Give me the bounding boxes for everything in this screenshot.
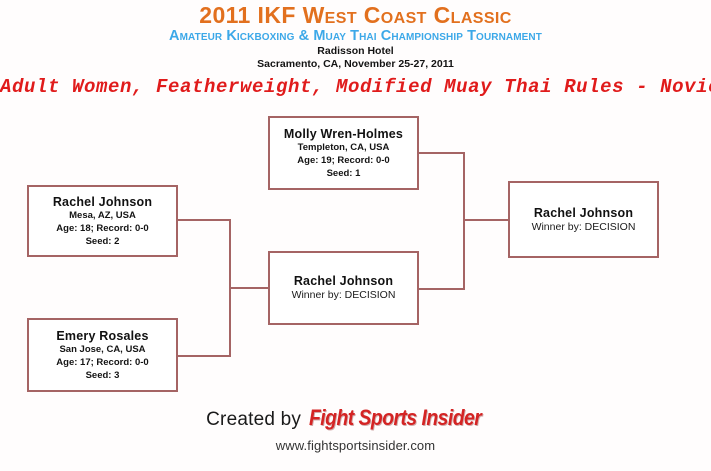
competitor-hometown: San Jose, CA, USA — [59, 343, 145, 356]
created-by-row: Created by Fight Sports Insider — [206, 405, 505, 431]
semifinal-winner-name: Rachel Johnson — [294, 274, 393, 288]
connector-final-vertical — [463, 152, 465, 290]
competitor-stats: Age: 19; Record: 0-0 — [297, 154, 389, 167]
final-winner-name: Rachel Johnson — [534, 206, 633, 220]
connector-semiwinner-to-final — [417, 288, 465, 290]
final-winner-box[interactable]: Rachel Johnson Winner by: DECISION — [508, 181, 659, 258]
competitor-name: Molly Wren-Holmes — [284, 127, 403, 141]
connector-final-feed — [463, 219, 510, 221]
connector-molly-to-final — [417, 152, 465, 154]
competitor-hometown: Mesa, AZ, USA — [69, 209, 136, 222]
competitor-stats: Age: 17; Record: 0-0 — [56, 356, 148, 369]
connector-semi-feed — [229, 287, 270, 289]
connector-emery-to-semi — [178, 355, 231, 357]
competitor-hometown: Templeton, CA, USA — [298, 141, 390, 154]
competitor-name: Rachel Johnson — [53, 195, 152, 209]
created-by-label: Created by — [206, 409, 301, 431]
competitor-name: Emery Rosales — [56, 329, 148, 343]
tournament-bracket-page: 2011 IKF West Coast Classic Amateur Kick… — [0, 0, 711, 471]
competitor-seed: Seed: 1 — [327, 167, 361, 180]
page-footer: Created by Fight Sports Insider www.figh… — [0, 405, 711, 453]
competitor-seed: Seed: 2 — [86, 235, 120, 248]
website-url[interactable]: www.fightsportsinsider.com — [0, 438, 711, 453]
competitor-stats: Age: 18; Record: 0-0 — [56, 222, 148, 235]
competitor-box-rachel-johnson[interactable]: Rachel Johnson Mesa, AZ, USA Age: 18; Re… — [27, 185, 178, 257]
semifinal-winner-box[interactable]: Rachel Johnson Winner by: DECISION — [268, 251, 419, 325]
semifinal-winner-result: Winner by: DECISION — [292, 288, 396, 302]
connector-rachel-to-semi — [178, 219, 231, 221]
competitor-seed: Seed: 3 — [86, 369, 120, 382]
competitor-box-emery-rosales[interactable]: Emery Rosales San Jose, CA, USA Age: 17;… — [27, 318, 178, 392]
competitor-box-molly-wren-holmes[interactable]: Molly Wren-Holmes Templeton, CA, USA Age… — [268, 116, 419, 190]
bracket-diagram: Molly Wren-Holmes Templeton, CA, USA Age… — [0, 0, 711, 471]
fight-sports-insider-logo: Fight Sports Insider — [309, 405, 481, 431]
final-winner-result: Winner by: DECISION — [532, 220, 636, 234]
